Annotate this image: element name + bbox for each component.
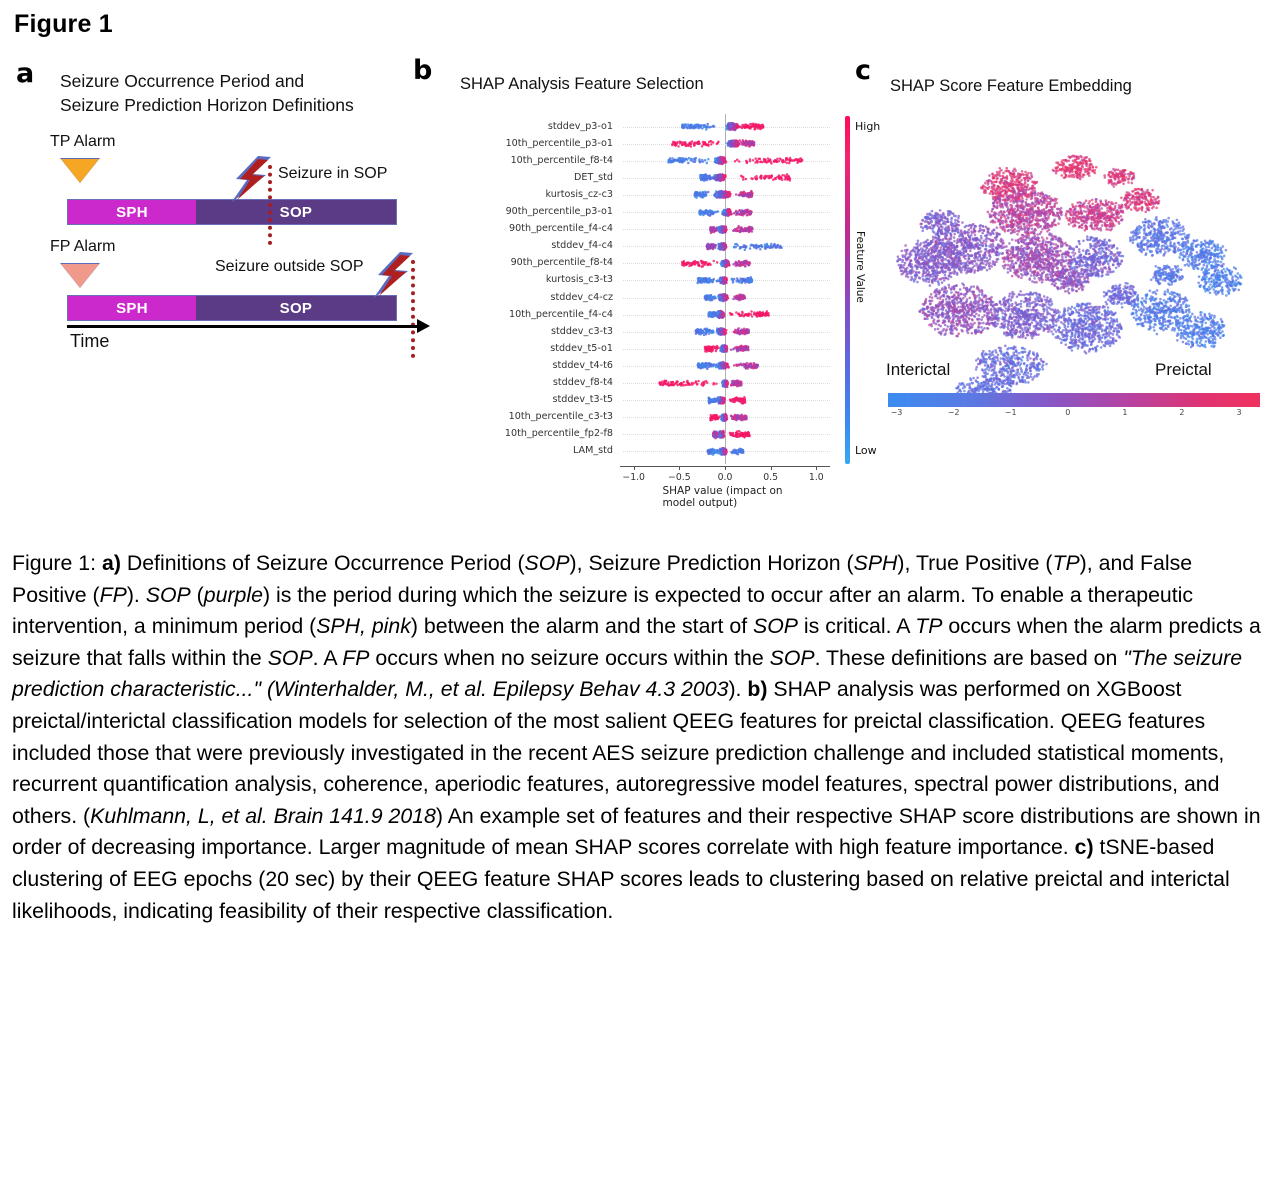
feature-label: 90th_percentile_p3-o1 — [506, 206, 613, 217]
x-axis-tick — [634, 466, 635, 470]
panel-c-title: SHAP Score Feature Embedding — [890, 77, 1132, 96]
feature-label: stddev_p3-o1 — [548, 121, 613, 132]
panel-a-title-line1: Seizure Occurrence Period and — [60, 71, 304, 91]
x-axis-tick-label: −1.0 — [622, 472, 645, 483]
x-axis-tick-label: 1.0 — [809, 472, 824, 483]
x-axis-tick-label: 0.0 — [718, 472, 733, 483]
fp-alarm-label: FP Alarm — [50, 238, 116, 256]
x-axis-tick — [679, 466, 680, 470]
shap-beeswarm-plot: stddev_p3-o110th_percentile_p3-o110th_pe… — [405, 110, 850, 525]
shap-value-distribution — [608, 427, 842, 442]
feature-label: 10th_percentile_f8-t4 — [511, 155, 613, 166]
shap-value-distribution — [608, 239, 842, 254]
tp-sph-segment: SPH — [68, 200, 196, 224]
shap-value-distribution — [608, 222, 842, 237]
panel-a-title: Seizure Occurrence Period and Seizure Pr… — [60, 69, 410, 117]
fp-sph-segment: SPH — [68, 296, 196, 320]
tp-alarm-triangle — [61, 159, 99, 183]
time-axis-label: Time — [70, 331, 109, 352]
shap-value-distribution — [608, 256, 842, 271]
shap-value-distribution — [608, 119, 842, 134]
x-axis-title: SHAP value (impact on model output) — [663, 485, 788, 509]
colorbar-tick-label: 0 — [1065, 408, 1070, 417]
feature-label: 10th_percentile_f4-c4 — [509, 309, 613, 320]
panel-b-letter: b — [413, 55, 432, 86]
colorbar-tick-label: −3 — [891, 408, 903, 417]
figure-caption: Figure 1: a) Definitions of Seizure Occu… — [12, 548, 1268, 927]
shap-value-distribution — [608, 358, 842, 373]
seizure-in-sop-label: Seizure in SOP — [278, 165, 387, 183]
fp-timeline-bar: SPH SOP — [67, 295, 397, 321]
x-axis-tick-label: 0.5 — [763, 472, 778, 483]
shap-value-distribution — [608, 273, 842, 288]
feature-label: 10th_percentile_p3-o1 — [506, 138, 613, 149]
shap-value-distribution — [608, 170, 842, 185]
shap-value-distribution — [608, 376, 842, 391]
panel-a: a Seizure Occurrence Period and Seizure … — [0, 55, 410, 355]
fp-alarm-triangle — [61, 264, 99, 288]
panel-b-title: SHAP Analysis Feature Selection — [460, 75, 704, 94]
panel-c-letter: c — [855, 55, 871, 86]
x-axis-tick — [816, 466, 817, 470]
shap-value-distribution — [608, 136, 842, 151]
feature-label: 10th_percentile_c3-t3 — [509, 411, 613, 422]
feature-label: stddev_t4-t6 — [552, 360, 613, 371]
shap-value-distribution — [608, 187, 842, 202]
colorbar-tick-label: 1 — [1122, 408, 1127, 417]
feature-label: 90th_percentile_f8-t4 — [511, 257, 613, 268]
interictal-label: Interictal — [886, 360, 950, 380]
panel-c: c SHAP Score Feature Embedding Intericta… — [850, 55, 1280, 475]
shap-score-colorbar — [888, 393, 1260, 407]
colorbar-tick-label: 2 — [1179, 408, 1184, 417]
figure-title: Figure 1 — [14, 10, 113, 39]
shap-value-distribution — [608, 153, 842, 168]
time-axis-line — [67, 325, 419, 328]
shap-value-distribution — [608, 307, 842, 322]
feature-label: stddev_f4-c4 — [551, 240, 613, 251]
colorbar-tick-label: −1 — [1005, 408, 1017, 417]
feature-label: stddev_c4-cz — [551, 292, 613, 303]
panel-b: b SHAP Analysis Feature Selection stddev… — [405, 55, 850, 525]
feature-label: kurtosis_c3-t3 — [546, 274, 613, 285]
feature-label: stddev_t5-o1 — [550, 343, 613, 354]
shap-value-distribution — [608, 324, 842, 339]
shap-value-distribution — [608, 290, 842, 305]
tp-alarm-label: TP Alarm — [50, 133, 116, 151]
feature-label: stddev_f8-t4 — [553, 377, 613, 388]
feature-label: kurtosis_cz-c3 — [545, 189, 613, 200]
tp-seizure-time-marker — [268, 165, 272, 245]
shap-score-colorbar-ticks: −3−2−10123 — [888, 408, 1260, 422]
feature-label: LAM_std — [573, 445, 613, 456]
x-axis-tick-label: −0.5 — [668, 472, 691, 483]
tp-sop-segment: SOP — [196, 200, 396, 224]
feature-label: stddev_t3-t5 — [552, 394, 613, 405]
panel-a-title-line2: Seizure Prediction Horizon Definitions — [60, 95, 354, 115]
x-axis-tick — [725, 466, 726, 470]
feature-label: 90th_percentile_f4-c4 — [509, 223, 613, 234]
preictal-label: Preictal — [1155, 360, 1212, 380]
shap-value-distribution — [608, 444, 842, 459]
panel-a-letter: a — [16, 58, 34, 89]
shap-value-distribution — [608, 410, 842, 425]
colorbar-tick-label: 3 — [1237, 408, 1242, 417]
feature-label: 10th_percentile_fp2-f8 — [505, 428, 613, 439]
fp-sop-segment: SOP — [196, 296, 396, 320]
feature-label: stddev_c3-t3 — [551, 326, 613, 337]
seizure-outside-sop-label: Seizure outside SOP — [215, 258, 364, 276]
x-axis-tick — [771, 466, 772, 470]
shap-value-distribution — [608, 205, 842, 220]
shap-value-distribution — [608, 393, 842, 408]
shap-value-distribution — [608, 341, 842, 356]
colorbar-tick-label: −2 — [948, 408, 960, 417]
